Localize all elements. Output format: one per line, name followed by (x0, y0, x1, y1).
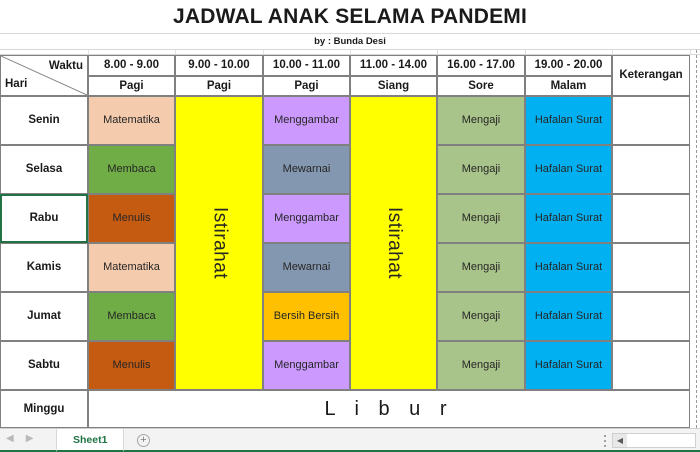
split-handle-icon[interactable] (604, 435, 607, 447)
day-label-kamis[interactable]: Kamis (0, 243, 88, 292)
scrollbar-track[interactable] (627, 434, 695, 447)
activity-rabu-0800[interactable]: Menulis (88, 194, 175, 243)
sheet-next-arrow-icon[interactable]: ▶ (26, 434, 34, 444)
header-time-6[interactable]: 19.00 - 20.00 (525, 55, 612, 76)
merged-break-morning[interactable]: Istirahat (175, 96, 263, 390)
header-time-3[interactable]: 10.00 - 11.00 (263, 55, 350, 76)
header-time-1[interactable]: 8.00 - 9.00 (88, 55, 175, 76)
activity-rabu-1900[interactable]: Hafalan Surat (525, 194, 612, 243)
header-period-5[interactable]: Sore (437, 76, 525, 96)
activity-jumat-1000[interactable]: Bersih Bersih (263, 292, 350, 341)
day-label-rabu[interactable]: Rabu (0, 194, 88, 243)
activity-senin-0800[interactable]: Matematika (88, 96, 175, 145)
header-period-6[interactable]: Malam (525, 76, 612, 96)
keterangan-senin[interactable] (612, 96, 690, 145)
activity-kamis-1000[interactable]: Mewarnai (263, 243, 350, 292)
print-area-boundary (696, 50, 697, 428)
corner-col-label: Waktu (49, 60, 83, 73)
activity-rabu-1600[interactable]: Mengaji (437, 194, 525, 243)
header-period-1[interactable]: Pagi (88, 76, 175, 96)
day-label-minggu[interactable]: Minggu (0, 390, 88, 428)
activity-senin-1900[interactable]: Hafalan Surat (525, 96, 612, 145)
activity-sabtu-1000[interactable]: Menggambar (263, 341, 350, 390)
day-label-senin[interactable]: Senin (0, 96, 88, 145)
page-subtitle: by : Bunda Desi (314, 36, 386, 47)
activity-selasa-1600[interactable]: Mengaji (437, 145, 525, 194)
activity-selasa-1900[interactable]: Hafalan Surat (525, 145, 612, 194)
sheet-tab-sheet1[interactable]: Sheet1 (56, 429, 124, 452)
spreadsheet-canvas: JADWAL ANAK SELAMA PANDEMI by : Bunda De… (0, 0, 700, 452)
horizontal-scrollbar[interactable]: ◀ (612, 433, 696, 448)
activity-jumat-1600[interactable]: Mengaji (437, 292, 525, 341)
document-title-row: JADWAL ANAK SELAMA PANDEMI (0, 0, 700, 34)
sheet-prev-arrow-icon[interactable]: ◀ (6, 434, 14, 444)
add-sheet-icon[interactable]: + (137, 434, 150, 447)
header-time-5[interactable]: 16.00 - 17.00 (437, 55, 525, 76)
header-keterangan[interactable]: Keterangan (612, 55, 690, 96)
activity-rabu-1000[interactable]: Menggambar (263, 194, 350, 243)
header-time-2[interactable]: 9.00 - 10.00 (175, 55, 263, 76)
activity-sabtu-0800[interactable]: Menulis (88, 341, 175, 390)
merged-break-morning-label: Istirahat (209, 207, 230, 279)
header-period-2[interactable]: Pagi (175, 76, 263, 96)
activity-selasa-1000[interactable]: Mewarnai (263, 145, 350, 194)
header-period-3[interactable]: Pagi (263, 76, 350, 96)
keterangan-selasa[interactable] (612, 145, 690, 194)
corner-header-cell[interactable]: Waktu Hari (0, 55, 88, 96)
keterangan-jumat[interactable] (612, 292, 690, 341)
merged-break-afternoon-label: Istirahat (383, 207, 404, 279)
activity-senin-1600[interactable]: Mengaji (437, 96, 525, 145)
sheet-tab-bar: ◀ ▶ Sheet1 + ◀ (0, 428, 700, 452)
day-label-jumat[interactable]: Jumat (0, 292, 88, 341)
header-period-4[interactable]: Siang (350, 76, 437, 96)
document-subtitle-row: by : Bunda Desi (0, 34, 700, 50)
activity-jumat-1900[interactable]: Hafalan Surat (525, 292, 612, 341)
keterangan-rabu[interactable] (612, 194, 690, 243)
keterangan-kamis[interactable] (612, 243, 690, 292)
activity-senin-1000[interactable]: Menggambar (263, 96, 350, 145)
activity-sabtu-1600[interactable]: Mengaji (437, 341, 525, 390)
merged-minggu-libur[interactable]: L i b u r (88, 390, 690, 428)
activity-sabtu-1900[interactable]: Hafalan Surat (525, 341, 612, 390)
scroll-left-arrow-icon[interactable]: ◀ (613, 434, 627, 447)
page-title: JADWAL ANAK SELAMA PANDEMI (173, 5, 527, 29)
activity-kamis-1600[interactable]: Mengaji (437, 243, 525, 292)
activity-kamis-1900[interactable]: Hafalan Surat (525, 243, 612, 292)
day-label-sabtu[interactable]: Sabtu (0, 341, 88, 390)
activity-jumat-0800[interactable]: Membaca (88, 292, 175, 341)
day-label-selasa[interactable]: Selasa (0, 145, 88, 194)
corner-row-label: Hari (5, 78, 27, 91)
header-time-4[interactable]: 11.00 - 14.00 (350, 55, 437, 76)
activity-selasa-0800[interactable]: Membaca (88, 145, 175, 194)
activity-kamis-0800[interactable]: Matematika (88, 243, 175, 292)
keterangan-sabtu[interactable] (612, 341, 690, 390)
sheet-nav-arrows[interactable]: ◀ ▶ (6, 434, 33, 444)
merged-break-afternoon[interactable]: Istirahat (350, 96, 437, 390)
